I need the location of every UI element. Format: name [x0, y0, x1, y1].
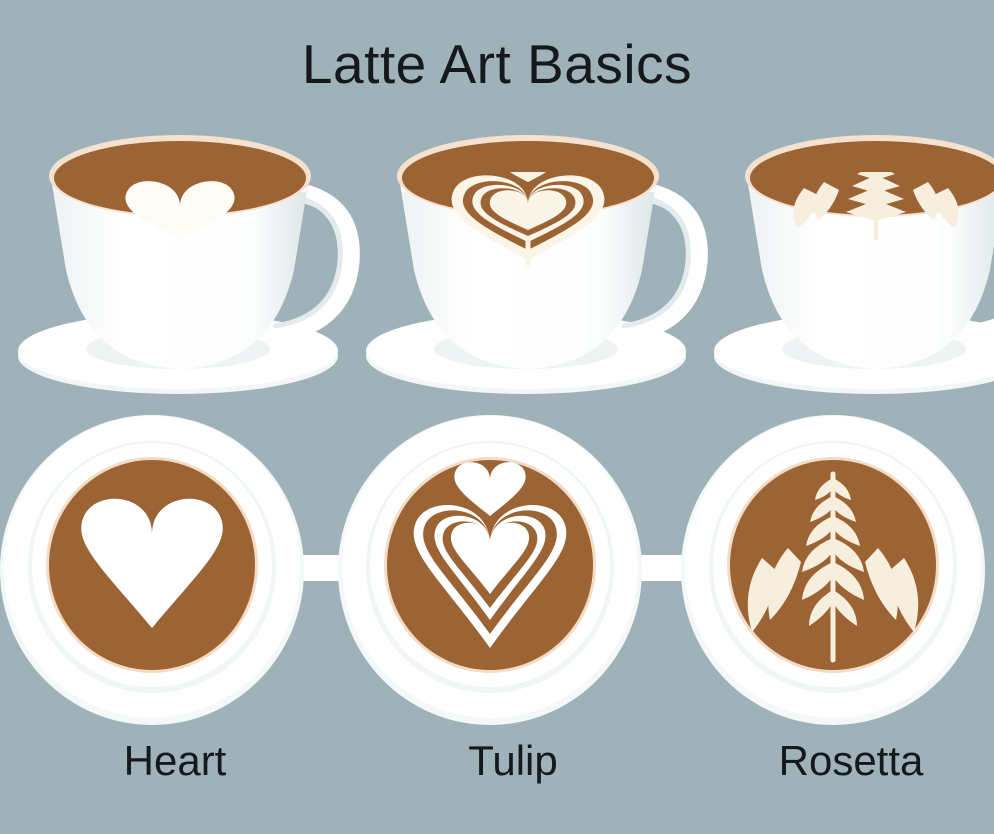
coffee-cup-top-tulip[interactable]: [330, 412, 660, 732]
pattern-label-tulip: Tulip: [348, 740, 678, 782]
top-view-row: [0, 412, 994, 732]
pattern-label-heart: Heart: [10, 740, 340, 782]
coffee-cup-side-tulip[interactable]: [358, 120, 698, 405]
coffee-cup-side-heart[interactable]: [10, 120, 350, 405]
side-view-row: [0, 120, 994, 405]
pattern-label-row: Heart Tulip Rosetta: [0, 740, 994, 820]
coffee-surface: [49, 135, 311, 217]
coffee-cup-top-rosetta[interactable]: [668, 412, 994, 732]
poster-canvas: Latte Art Basics: [0, 0, 994, 834]
coffee-cup-top-heart[interactable]: [0, 412, 322, 732]
coffee-cup-side-rosetta[interactable]: [706, 120, 994, 405]
pattern-label-rosetta: Rosetta: [686, 740, 994, 782]
page-title: Latte Art Basics: [0, 36, 994, 94]
